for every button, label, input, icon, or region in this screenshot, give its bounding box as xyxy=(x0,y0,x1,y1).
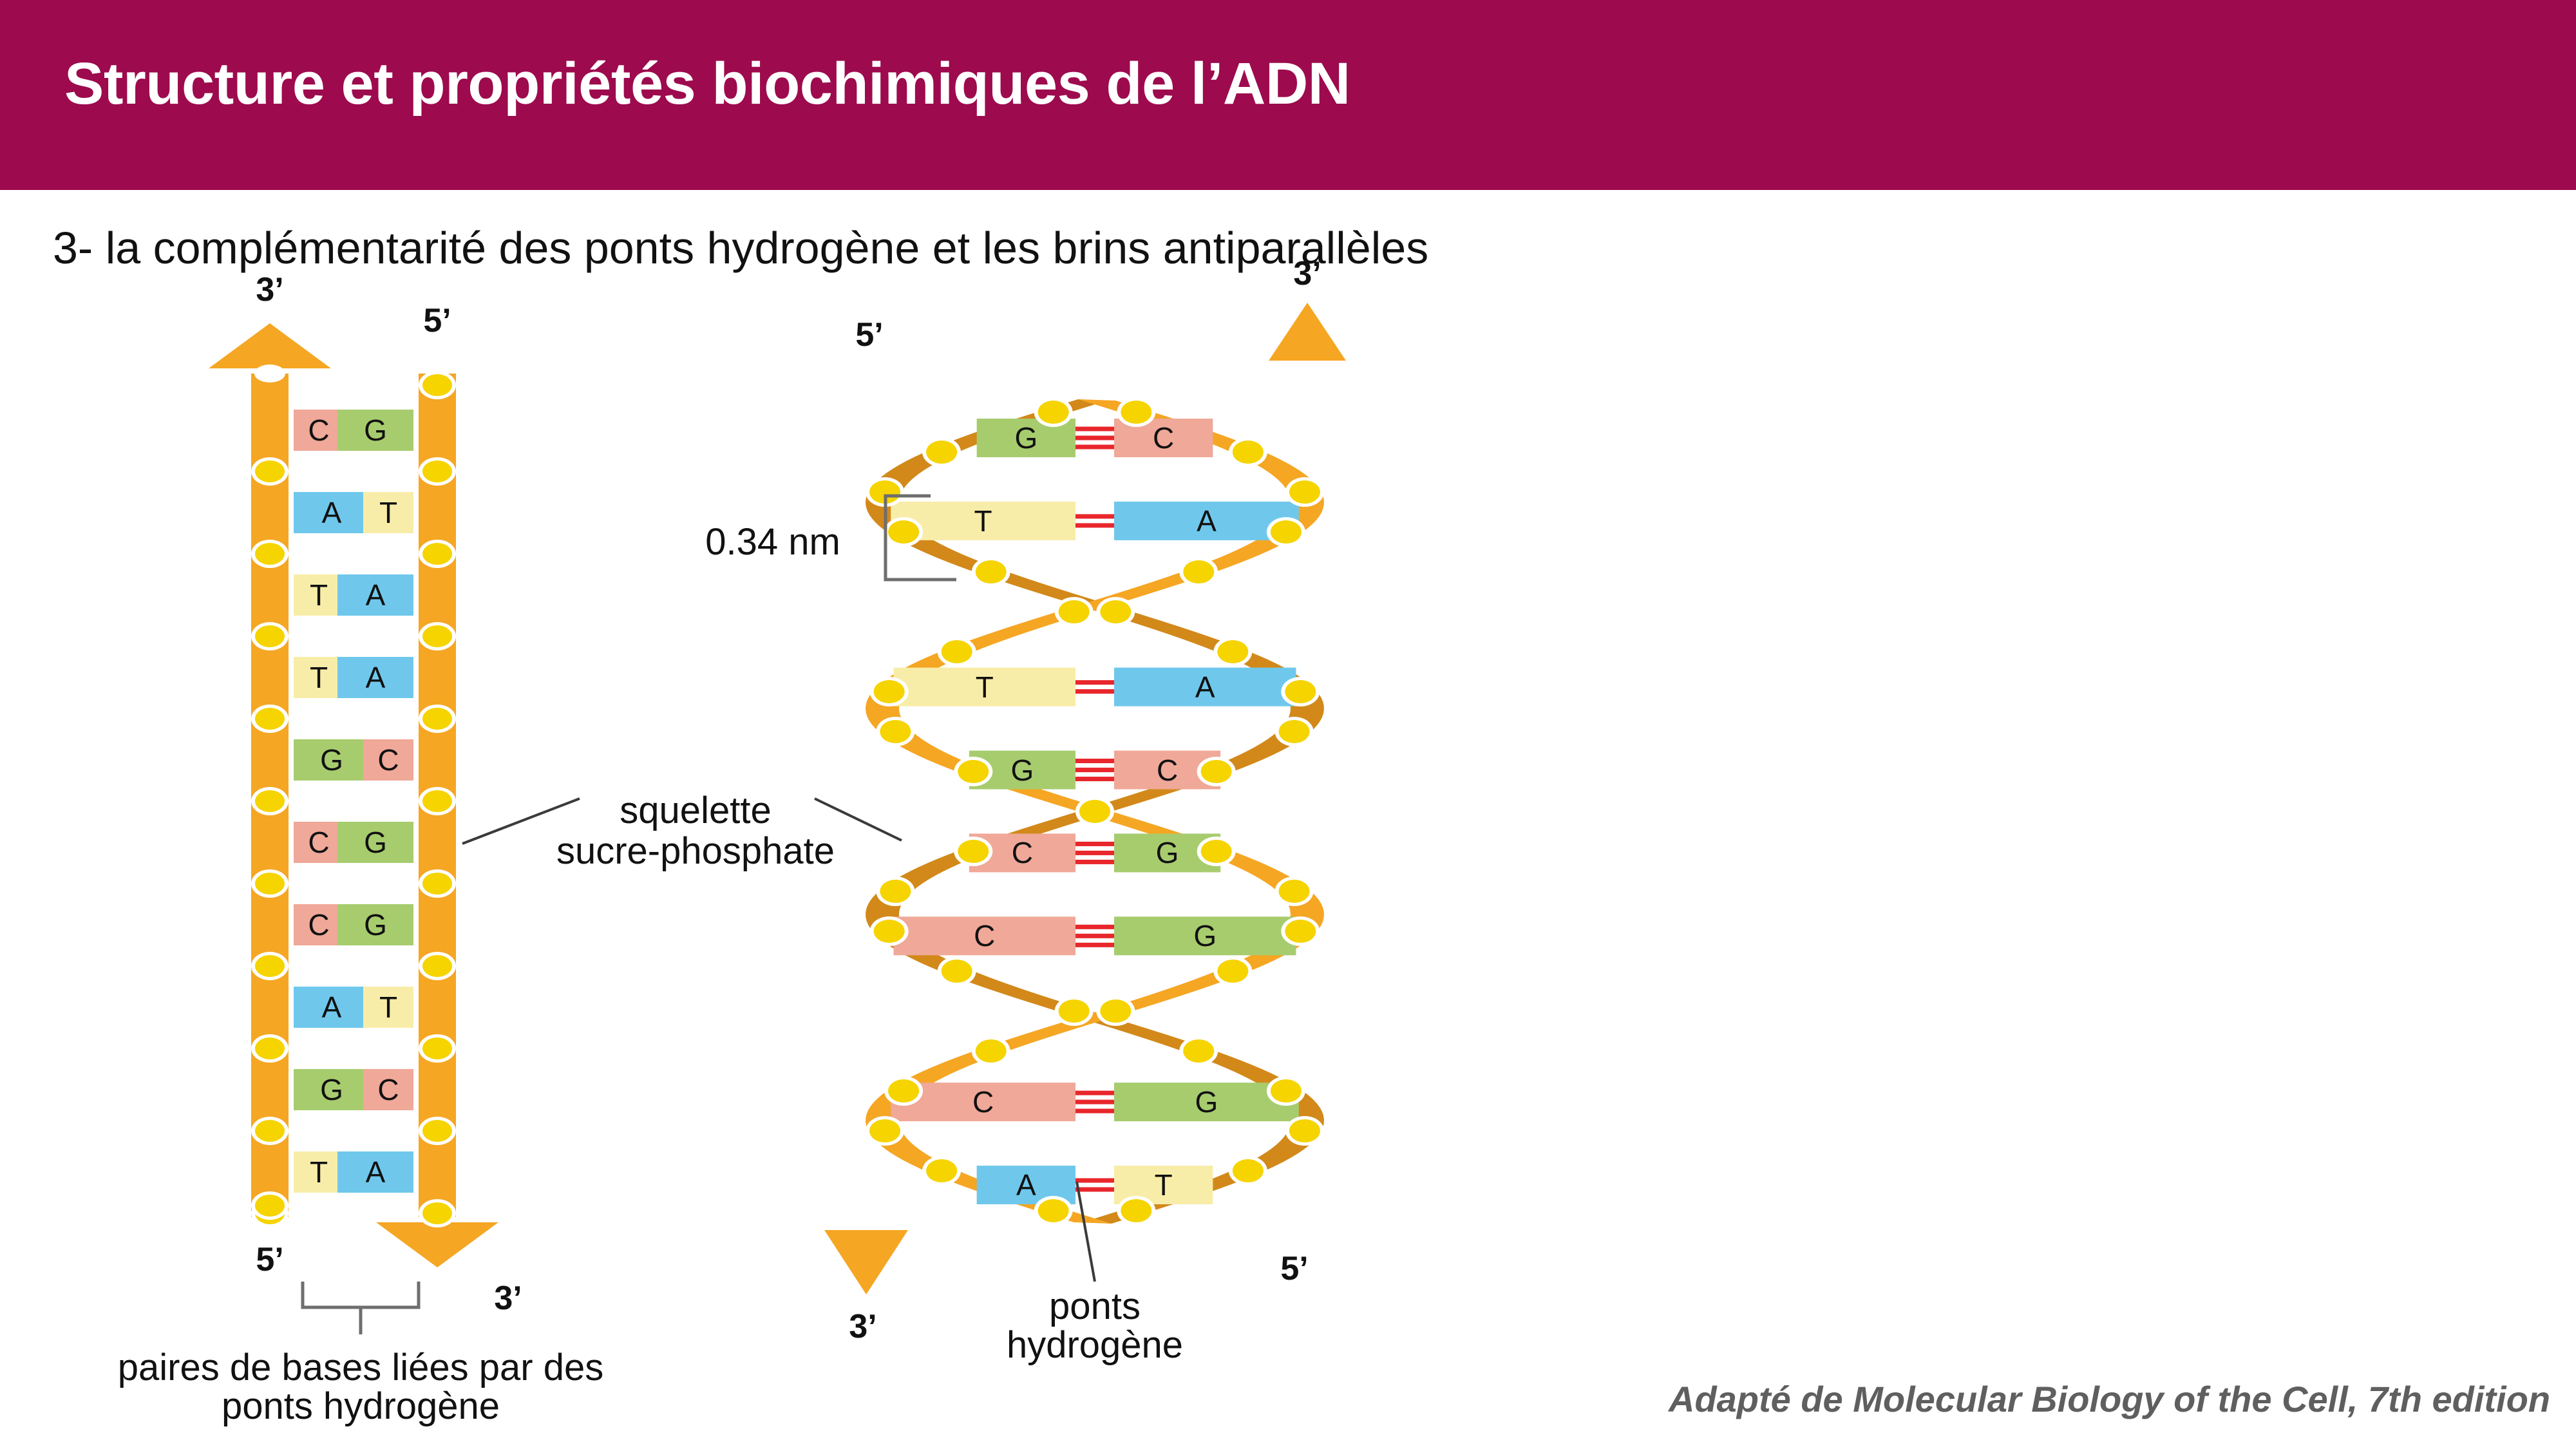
hydrogen-bond-line xyxy=(1075,514,1114,518)
phosphate-circle xyxy=(1100,600,1131,623)
helix-label-5prime-bottom-right: 5’ xyxy=(1280,1249,1308,1288)
hbond-annotation-line1: ponts xyxy=(1049,1285,1141,1329)
base-block-a xyxy=(1114,668,1296,706)
phosphate-circle xyxy=(422,955,452,977)
phosphate-circle xyxy=(888,1079,919,1103)
base-block-c xyxy=(294,822,344,863)
base-block-g xyxy=(294,1069,370,1110)
strand-arrow-top-left xyxy=(209,323,331,368)
backbone-annotation-line1: squelette xyxy=(620,789,771,833)
base-block-c xyxy=(294,904,344,945)
phosphate-circle xyxy=(1285,920,1316,943)
base-block-a xyxy=(337,1151,413,1193)
strand-label-5prime-bottom-left: 5’ xyxy=(256,1240,283,1279)
hydrogen-bond-line xyxy=(1075,1109,1114,1113)
phosphate-circle xyxy=(1059,600,1090,623)
hydrogen-bond-line xyxy=(1075,1091,1114,1095)
phosphate-circle xyxy=(1183,1039,1214,1063)
phosphate-circle xyxy=(942,640,972,663)
phosphate-circle xyxy=(888,520,919,544)
base-block-t xyxy=(894,668,1075,706)
base-block-a xyxy=(337,574,413,616)
phosphate-circle xyxy=(880,880,911,903)
base-block-t xyxy=(294,574,344,616)
phosphate-circle xyxy=(1038,401,1069,424)
phosphate-circle xyxy=(942,960,972,983)
phosphate-circle xyxy=(926,1159,957,1182)
phosphate-circle xyxy=(1100,999,1131,1023)
hydrogen-bond-line xyxy=(1075,1179,1114,1183)
phosphate-circle xyxy=(422,625,452,647)
base-block-g xyxy=(337,904,413,945)
base-block-c xyxy=(363,739,413,781)
hydrogen-bond-line xyxy=(1075,680,1114,685)
hydrogen-bond-line xyxy=(1075,1188,1114,1192)
base-block-a xyxy=(294,987,370,1028)
helix-label-3prime-bottom-left: 3’ xyxy=(849,1307,876,1346)
phosphate-circle xyxy=(1279,880,1310,903)
hydrogen-bond-line xyxy=(1075,860,1114,864)
phosphate-circle xyxy=(976,1039,1007,1063)
phosphate-circle xyxy=(874,680,905,703)
hydrogen-bond-leader xyxy=(1077,1182,1095,1282)
phosphate-circle xyxy=(926,440,957,464)
hydrogen-bond-line xyxy=(1075,842,1114,846)
phosphate-circle xyxy=(1217,640,1248,663)
phosphate-circle xyxy=(869,1119,900,1142)
hydrogen-bond-line xyxy=(1075,777,1114,781)
phosphate-circle xyxy=(1271,1079,1302,1103)
phosphate-circle xyxy=(1121,401,1151,424)
phosphate-circle xyxy=(1079,800,1110,823)
base-block-g xyxy=(337,822,413,863)
base-block-t xyxy=(294,1151,344,1193)
ladder-caption-line2: ponts hydrogène xyxy=(222,1385,500,1428)
backbone-annotation-line2: sucre-phosphate xyxy=(556,829,835,873)
hydrogen-bond-line xyxy=(1075,768,1114,772)
base-block-g xyxy=(337,410,413,451)
hydrogen-bond-line xyxy=(1075,759,1114,763)
phosphate-circle xyxy=(255,625,285,647)
base-block-g xyxy=(294,739,370,781)
backbone-notch xyxy=(254,365,285,383)
phosphate-circle xyxy=(422,873,452,895)
phosphate-circle xyxy=(422,1120,452,1142)
base-block-t xyxy=(363,492,413,533)
hydrogen-bond-line xyxy=(1075,943,1114,947)
base-block-c xyxy=(363,1069,413,1110)
phosphate-circle xyxy=(422,1202,452,1224)
base-block-a xyxy=(294,492,370,533)
hbond-annotation-line2: hydrogène xyxy=(1007,1323,1183,1367)
phosphate-circle xyxy=(1038,1199,1069,1222)
phosphate-circle xyxy=(1285,680,1316,703)
phosphate-circle xyxy=(255,790,285,812)
phosphate-circle xyxy=(255,1195,285,1217)
rise-label: 0.34 nm xyxy=(705,520,840,564)
strand-label-3prime-top-left: 3’ xyxy=(256,270,283,309)
phosphate-circle xyxy=(255,708,285,730)
phosphate-circle xyxy=(255,460,285,482)
phosphate-circle xyxy=(1183,560,1214,583)
base-block-a xyxy=(337,657,413,698)
phosphate-circle xyxy=(1217,960,1248,983)
hydrogen-bond-line xyxy=(1075,427,1114,431)
phosphate-circle xyxy=(1201,760,1232,783)
base-block-t xyxy=(294,657,344,698)
phosphate-circle xyxy=(255,955,285,977)
base-block-c xyxy=(294,410,344,451)
phosphate-circle xyxy=(1059,999,1090,1023)
base-block-c xyxy=(894,916,1075,955)
hydrogen-bond-line xyxy=(1075,436,1114,440)
phosphate-circle xyxy=(422,1037,452,1059)
phosphate-circle xyxy=(422,790,452,812)
helix-arrow-top-right xyxy=(1269,303,1346,361)
hydrogen-bond-line xyxy=(1075,445,1114,450)
hydrogen-bond-line xyxy=(1075,1100,1114,1104)
hydrogen-bond-line xyxy=(1075,934,1114,938)
strand-label-5prime-top-right: 5’ xyxy=(423,301,451,340)
phosphate-circle xyxy=(1121,1199,1151,1222)
phosphate-circle xyxy=(958,760,989,783)
phosphate-circle xyxy=(1233,1159,1264,1182)
phosphate-circle xyxy=(422,460,452,482)
hydrogen-bond-line xyxy=(1075,925,1114,929)
phosphate-circle xyxy=(1279,720,1310,743)
dna-figure xyxy=(0,0,2576,1449)
hydrogen-bond-line xyxy=(1075,689,1114,694)
phosphate-circle xyxy=(1201,840,1232,863)
phosphate-circle xyxy=(422,374,452,396)
helix-label-5prime-top-left: 5’ xyxy=(855,316,883,354)
hydrogen-bond-line xyxy=(1075,523,1114,527)
phosphate-circle xyxy=(880,720,911,743)
phosphate-circle xyxy=(255,543,285,565)
helix-arrow-bottom-left xyxy=(824,1230,908,1294)
phosphate-circle xyxy=(255,1120,285,1142)
phosphate-circle xyxy=(255,1037,285,1059)
phosphate-circle xyxy=(874,920,905,943)
strand-arrow-bottom-right xyxy=(376,1222,498,1267)
phosphate-circle xyxy=(976,560,1007,583)
ladder-caption-line1: paires de bases liées par des xyxy=(118,1346,603,1390)
phosphate-circle xyxy=(255,873,285,895)
helix-label-3prime-top-right: 3’ xyxy=(1293,254,1321,293)
phosphate-circle xyxy=(958,840,989,863)
base-block-g xyxy=(1114,916,1296,955)
phosphate-circle xyxy=(1271,520,1302,544)
phosphate-circle xyxy=(1289,1119,1320,1142)
base-block-t xyxy=(363,987,413,1028)
phosphate-circle xyxy=(422,708,452,730)
phosphate-circle xyxy=(1289,480,1320,504)
hydrogen-bond-line xyxy=(1075,851,1114,855)
phosphate-circle xyxy=(422,543,452,565)
base-pair-bracket xyxy=(303,1282,419,1307)
strand-label-3prime-bottom-right: 3’ xyxy=(494,1279,522,1318)
phosphate-circle xyxy=(1233,440,1264,464)
